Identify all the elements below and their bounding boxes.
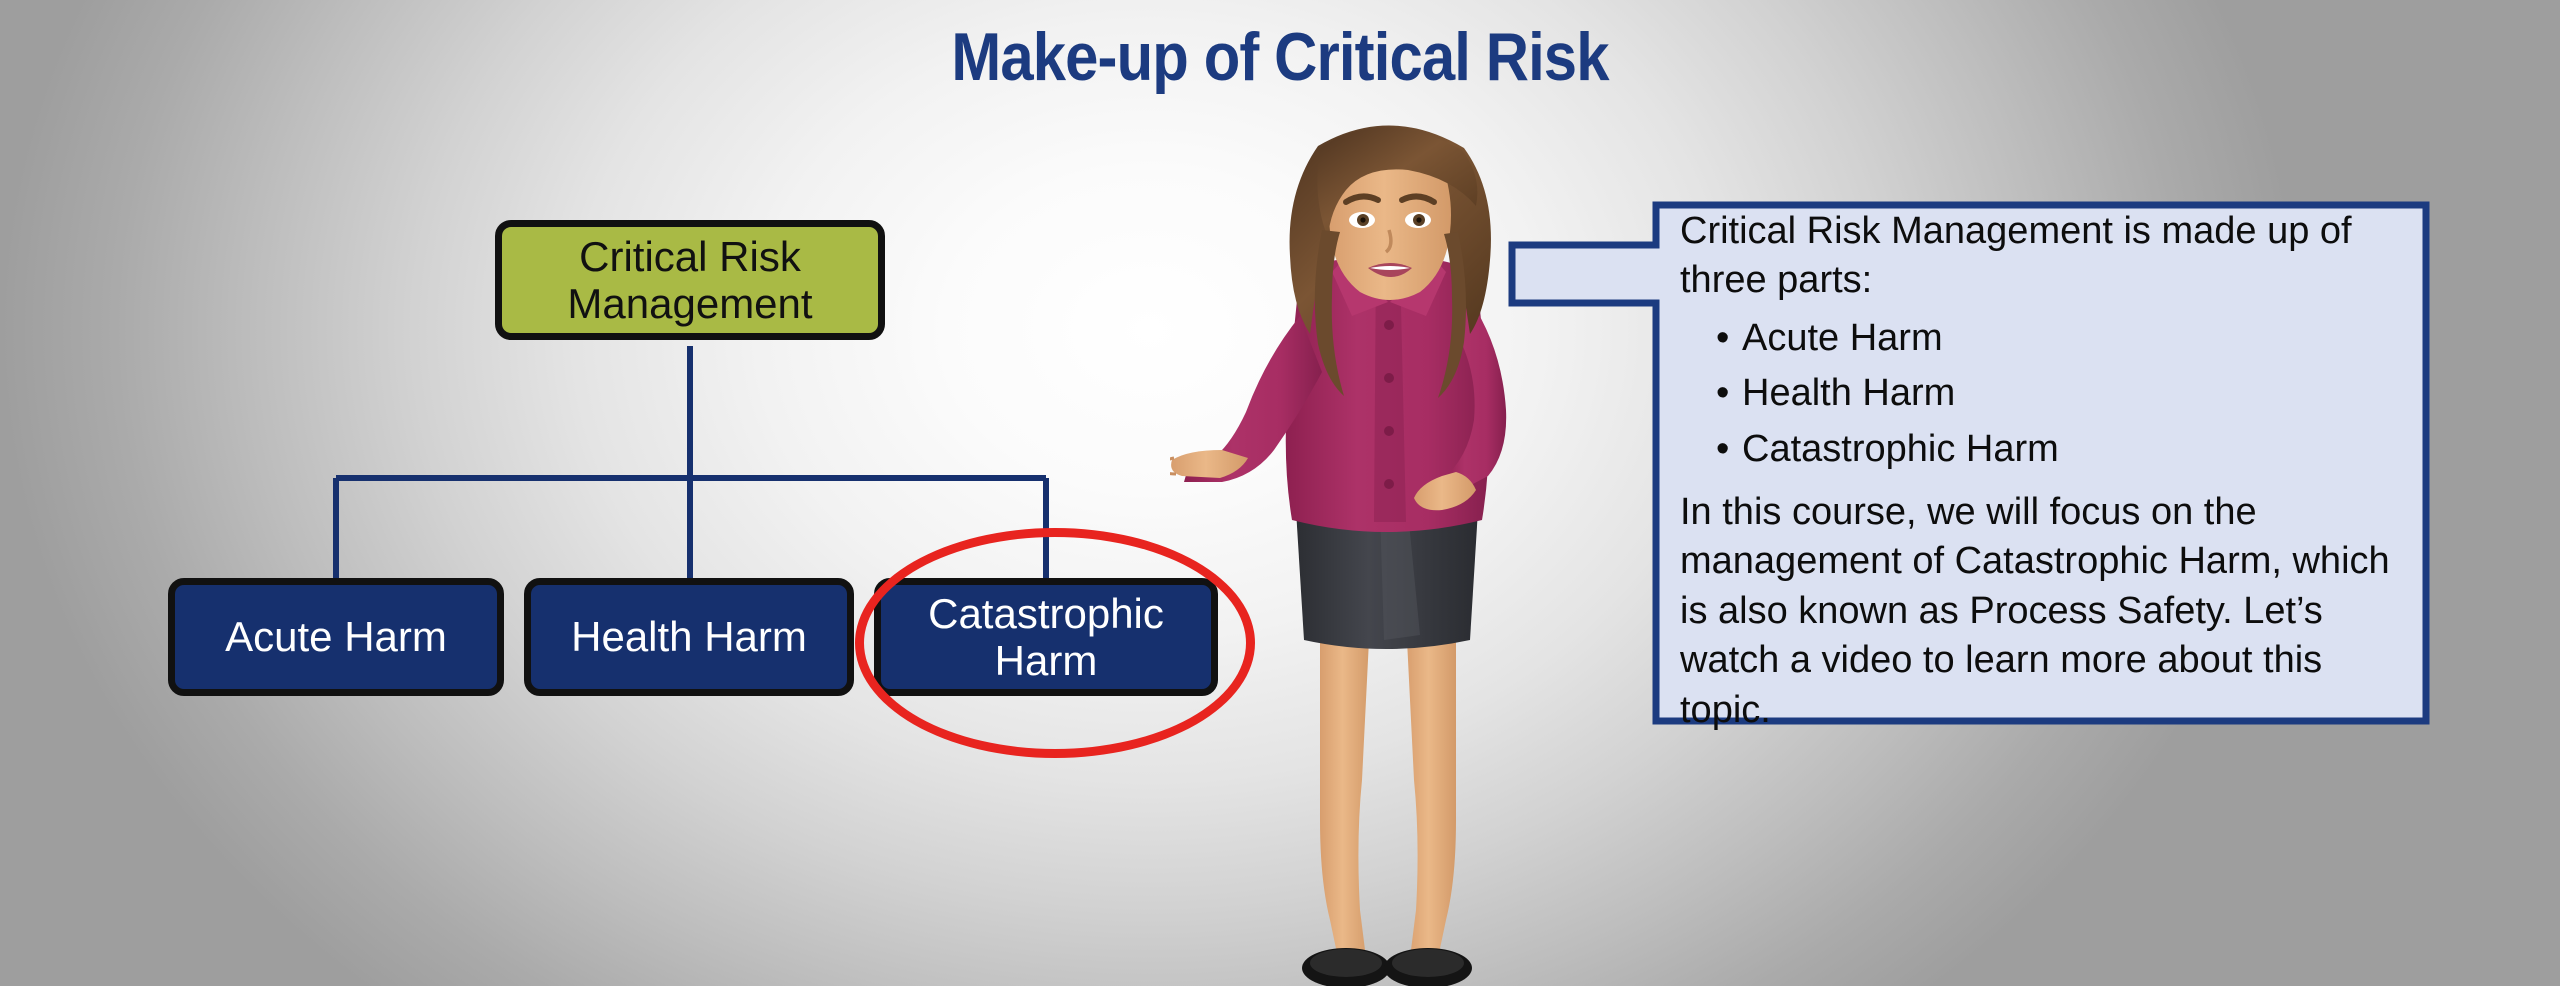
callout-box: Critical Risk Management is made up of t… bbox=[1508, 185, 2430, 725]
bullet-icon: • bbox=[1716, 314, 1729, 363]
bullet-icon: • bbox=[1716, 369, 1729, 418]
node-critical-risk-management[interactable]: Critical Risk Management bbox=[495, 220, 885, 340]
list-item: • Catastrophic Harm bbox=[1680, 425, 2410, 474]
callout-lead-text: Critical Risk Management is made up of t… bbox=[1680, 207, 2410, 306]
list-item-label: Health Harm bbox=[1742, 372, 1955, 414]
list-item: • Health Harm bbox=[1680, 369, 2410, 418]
node-label: Critical Risk Management bbox=[502, 233, 878, 327]
bullet-icon: • bbox=[1716, 425, 1729, 474]
callout-body-text: In this course, we will focus on the man… bbox=[1680, 488, 2410, 735]
node-label: Health Harm bbox=[571, 613, 807, 660]
callout-bullet-list: • Acute Harm • Health Harm • Catastrophi… bbox=[1680, 314, 2410, 474]
node-acute-harm[interactable]: Acute Harm bbox=[168, 578, 504, 696]
list-item-label: Catastrophic Harm bbox=[1742, 428, 2059, 470]
org-chart: Critical Risk Management Acute Harm Heal… bbox=[0, 0, 1300, 986]
list-item: • Acute Harm bbox=[1680, 314, 2410, 363]
slide-canvas: Make-up of Critical Risk Critical Risk M… bbox=[0, 0, 2560, 986]
list-item-label: Acute Harm bbox=[1742, 317, 1943, 359]
node-label: Acute Harm bbox=[225, 613, 447, 660]
callout-content: Critical Risk Management is made up of t… bbox=[1680, 207, 2410, 735]
node-health-harm[interactable]: Health Harm bbox=[524, 578, 854, 696]
org-chart-connectors bbox=[0, 0, 1300, 986]
